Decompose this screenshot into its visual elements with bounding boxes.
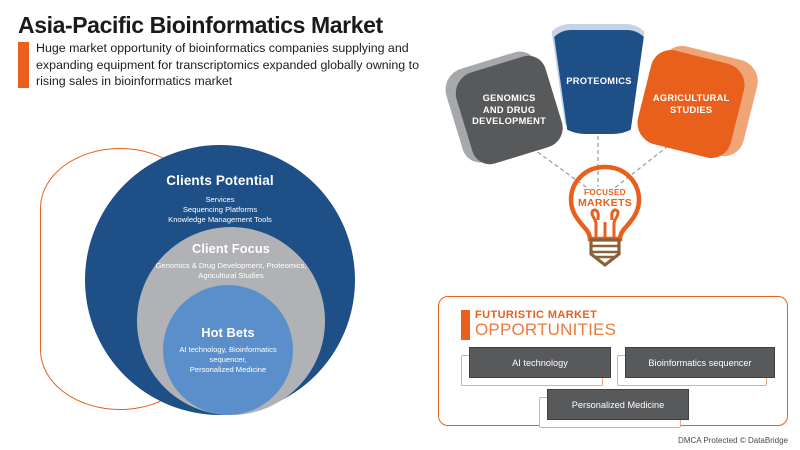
opportunity-item-3[interactable]: Personalized Medicine (539, 389, 681, 420)
opportunity-item-3-box[interactable]: Personalized Medicine (547, 389, 689, 420)
opportunity-item-2[interactable]: Bioinformatics sequencer (617, 347, 767, 378)
page-subtitle: Huge market opportunity of bioinformatic… (36, 40, 436, 90)
opportunity-item-2-label: Bioinformatics sequencer (648, 358, 751, 368)
circle-hot-bets: Hot Bets AI technology, Bioinformatics s… (163, 285, 293, 415)
panel-heading-bottom: OPPORTUNITIES (475, 320, 616, 340)
title-accent-bar (18, 42, 29, 88)
opportunity-item-1-box[interactable]: AI technology (469, 347, 611, 378)
futuristic-market-opportunities-panel: FUTURISTIC MARKET OPPORTUNITIES AI techn… (438, 296, 788, 426)
circle-middle-label: Client Focus (192, 241, 270, 256)
opportunity-item-2-box[interactable]: Bioinformatics sequencer (625, 347, 775, 378)
panel-accent-bar (461, 310, 470, 340)
opportunity-item-3-label: Personalized Medicine (572, 400, 664, 410)
shield-agricultural-label: AGRICULTURALSTUDIES (653, 92, 730, 115)
shield-proteomics-label: PROTEOMICS (566, 76, 632, 88)
page-title: Asia-Pacific Bioinformatics Market (18, 12, 383, 39)
lightbulb-focused-markets: FOCUSED MARKETS (563, 162, 647, 268)
circle-outer-body: ServicesSequencing PlatformsKnowledge Ma… (158, 195, 282, 225)
copyright-footer: DMCA Protected © DataBridge (678, 436, 788, 445)
shield-genomics-label: GENOMICSAND DRUGDEVELOPMENT (472, 93, 546, 128)
lightbulb-icon (563, 162, 647, 268)
concentric-circles-diagram: Clients Potential ServicesSequencing Pla… (0, 130, 420, 450)
opportunity-item-1[interactable]: AI technology (461, 347, 603, 378)
circle-inner-body: AI technology, Bioinformatics sequencer,… (163, 345, 293, 375)
circle-inner-label: Hot Bets (201, 325, 254, 340)
opportunity-item-1-label: AI technology (512, 358, 568, 368)
circle-middle-body: Genomics & Drug Development, Proteomics,… (147, 261, 314, 281)
circle-outer-label: Clients Potential (166, 173, 273, 188)
infographic-canvas: Asia-Pacific Bioinformatics Market Huge … (0, 0, 800, 450)
